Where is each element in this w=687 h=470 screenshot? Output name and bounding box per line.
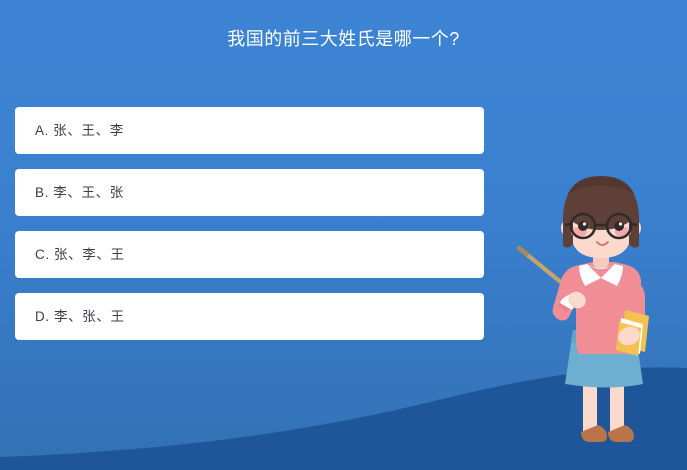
eye-right bbox=[614, 221, 624, 231]
legs bbox=[583, 375, 624, 437]
blush-right bbox=[615, 227, 631, 237]
option-label-c: C. 张、李、王 bbox=[35, 245, 125, 265]
eye-left bbox=[578, 221, 588, 231]
glasses-icon bbox=[565, 214, 637, 238]
teacher-illustration-icon bbox=[507, 170, 687, 470]
sweater bbox=[553, 262, 641, 354]
skirt bbox=[565, 330, 643, 388]
face bbox=[571, 180, 631, 258]
option-label-d: D. 李、张、王 bbox=[35, 307, 125, 327]
option-card-c[interactable]: C. 张、李、王 bbox=[15, 231, 484, 278]
blush-left bbox=[571, 227, 587, 237]
hair bbox=[563, 178, 639, 248]
option-label-a: A. 张、王、李 bbox=[35, 121, 124, 141]
mouth bbox=[597, 242, 608, 245]
option-card-d[interactable]: D. 李、张、王 bbox=[15, 293, 484, 340]
shoes-icon bbox=[581, 425, 634, 442]
quiz-screen: 我国的前三大姓氏是哪一个? A. 张、王、李 B. 李、王、张 C. 张、李、王… bbox=[0, 0, 687, 470]
option-label-b: B. 李、王、张 bbox=[35, 183, 124, 203]
option-card-b[interactable]: B. 李、王、张 bbox=[15, 169, 484, 216]
pointer-stick-icon bbox=[519, 248, 579, 297]
options-list: A. 张、王、李 B. 李、王、张 C. 张、李、王 D. 李、张、王 bbox=[15, 107, 484, 340]
collar bbox=[579, 264, 623, 286]
ground-decoration bbox=[0, 350, 687, 470]
question-title: 我国的前三大姓氏是哪一个? bbox=[0, 26, 687, 52]
option-card-a[interactable]: A. 张、王、李 bbox=[15, 107, 484, 154]
book-icon bbox=[616, 310, 649, 356]
